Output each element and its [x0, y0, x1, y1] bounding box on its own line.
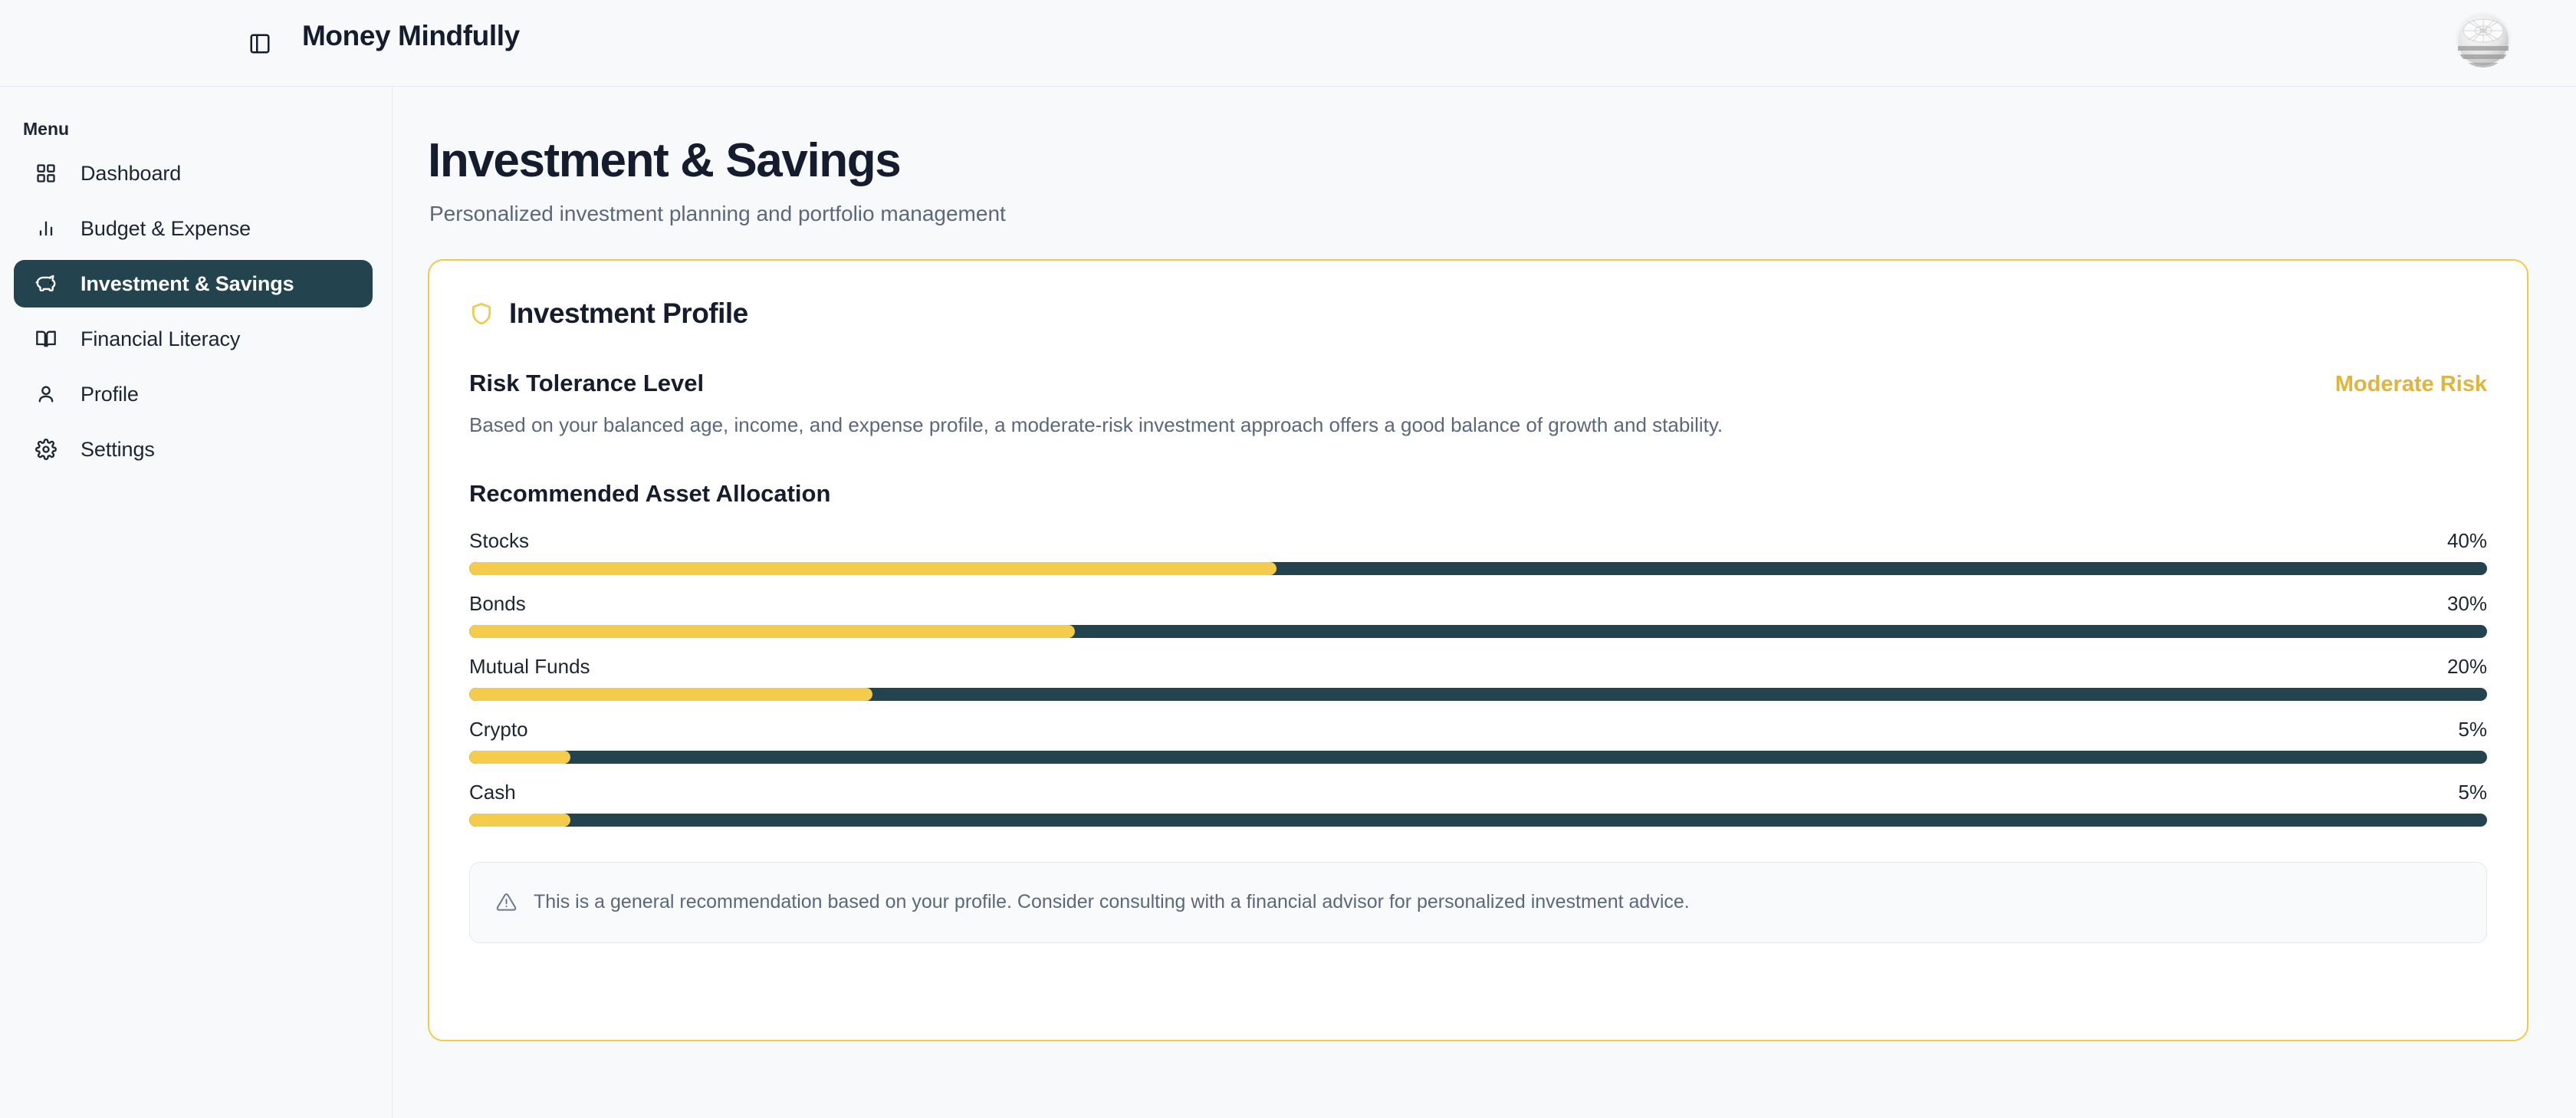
allocation-row: Bonds30% — [469, 592, 2487, 638]
allocation-progress-track — [469, 625, 2487, 638]
card-title: Investment Profile — [509, 298, 748, 330]
risk-tolerance-label: Risk Tolerance Level — [469, 370, 704, 397]
disclaimer-text: This is a general recommendation based o… — [534, 891, 1690, 913]
allocation-asset-name: Crypto — [469, 718, 528, 741]
allocation-percent-value: 5% — [2458, 781, 2487, 804]
avatar[interactable] — [2456, 12, 2511, 67]
allocation-progress-track — [469, 688, 2487, 701]
sidebar-item-budget-expense[interactable]: Budget & Expense — [14, 205, 373, 252]
sidebar-nav: Dashboard Budget & Expense — [0, 150, 393, 481]
allocation-asset-name: Cash — [469, 781, 516, 804]
allocation-row: Cash5% — [469, 781, 2487, 827]
sidebar-item-investment-savings[interactable]: Investment & Savings — [14, 260, 373, 307]
card-header: Investment Profile — [469, 298, 2487, 330]
allocation-progress-fill — [469, 751, 570, 764]
allocation-section-title: Recommended Asset Allocation — [469, 480, 2487, 508]
bar-chart-icon — [32, 215, 60, 242]
allocation-progress-fill — [469, 562, 1276, 575]
allocation-progress-track — [469, 751, 2487, 764]
allocation-percent-value: 30% — [2447, 592, 2487, 616]
allocation-asset-name: Stocks — [469, 529, 529, 553]
panel-left-icon — [248, 32, 271, 55]
risk-level-badge: Moderate Risk — [2335, 372, 2487, 397]
allocation-row-header: Bonds30% — [469, 592, 2487, 616]
main-content: Investment & Savings Personalized invest… — [393, 87, 2576, 1118]
sidebar-item-profile[interactable]: Profile — [14, 370, 373, 418]
sidebar-item-label: Financial Literacy — [80, 327, 240, 351]
allocation-row-header: Mutual Funds20% — [469, 655, 2487, 679]
user-avatar-image — [2456, 12, 2511, 67]
top-bar: Money Mindfully — [0, 0, 2576, 87]
allocation-progress-fill — [469, 814, 570, 827]
risk-description: Based on your balanced age, income, and … — [469, 413, 2487, 437]
allocation-progress-track — [469, 814, 2487, 827]
allocation-asset-name: Mutual Funds — [469, 655, 590, 679]
shield-icon — [469, 301, 494, 327]
allocation-row-header: Cash5% — [469, 781, 2487, 804]
allocation-progress-fill — [469, 625, 1075, 638]
allocation-progress-fill — [469, 688, 872, 701]
layout-grid-icon — [32, 159, 60, 187]
sidebar-section-label: Menu — [23, 119, 69, 140]
sidebar-toggle-button[interactable] — [245, 29, 274, 58]
sidebar-item-label: Profile — [80, 383, 139, 406]
app-title: Money Mindfully — [302, 20, 520, 52]
piggy-bank-icon — [32, 270, 60, 298]
book-open-icon — [32, 325, 60, 353]
sidebar-item-settings[interactable]: Settings — [14, 426, 373, 473]
risk-tolerance-row: Risk Tolerance Level Moderate Risk — [469, 370, 2487, 397]
allocation-row-header: Crypto5% — [469, 718, 2487, 741]
allocation-row: Crypto5% — [469, 718, 2487, 764]
disclaimer-notice: This is a general recommendation based o… — [469, 862, 2487, 943]
sidebar-item-dashboard[interactable]: Dashboard — [14, 150, 373, 197]
allocation-row-header: Stocks40% — [469, 529, 2487, 553]
allocation-percent-value: 20% — [2447, 655, 2487, 679]
page-subtitle: Personalized investment planning and por… — [429, 202, 2528, 226]
warning-triangle-icon — [496, 892, 517, 912]
allocation-asset-name: Bonds — [469, 592, 526, 616]
gear-icon — [32, 436, 60, 463]
allocation-progress-track — [469, 562, 2487, 575]
sidebar-item-financial-literacy[interactable]: Financial Literacy — [14, 315, 373, 363]
sidebar-item-label: Settings — [80, 438, 155, 462]
sidebar: Menu Dashboard Budget & Ex — [0, 87, 393, 1118]
allocation-row: Mutual Funds20% — [469, 655, 2487, 701]
user-icon — [32, 380, 60, 408]
investment-profile-card: Investment Profile Risk Tolerance Level … — [428, 259, 2528, 1041]
allocation-percent-value: 40% — [2447, 529, 2487, 553]
sidebar-item-label: Budget & Expense — [80, 217, 251, 241]
page-title: Investment & Savings — [428, 136, 2528, 186]
asset-allocation-list: Stocks40%Bonds30%Mutual Funds20%Crypto5%… — [469, 529, 2487, 827]
sidebar-item-label: Dashboard — [80, 162, 181, 186]
allocation-percent-value: 5% — [2458, 718, 2487, 741]
allocation-row: Stocks40% — [469, 529, 2487, 575]
sidebar-item-label: Investment & Savings — [80, 272, 294, 296]
